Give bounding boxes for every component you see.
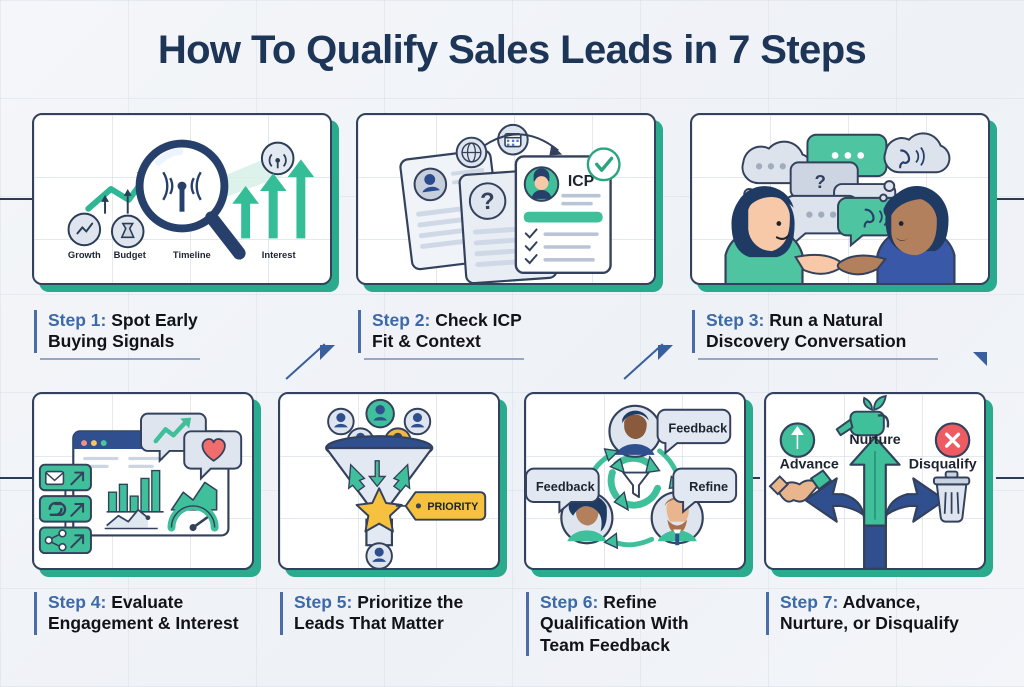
step-card-3[interactable]: ? bbox=[690, 113, 990, 285]
step-caption-6: Step 6: Refine Qualification With Team F… bbox=[526, 592, 756, 656]
step-title-4-line2: Engagement & Interest bbox=[48, 613, 239, 633]
step-number-5: Step 5: bbox=[294, 592, 352, 612]
step-title-1-line2: Buying Signals bbox=[48, 331, 174, 351]
svg-text:Feedback: Feedback bbox=[668, 420, 728, 435]
page-title: How To Qualify Sales Leads in 7 Steps bbox=[0, 28, 1024, 73]
step-title-2-line1: Check ICP bbox=[435, 310, 522, 330]
step-number-3: Step 3: bbox=[706, 310, 764, 330]
step-title-6-line2: Qualification With bbox=[540, 613, 689, 633]
svg-text:Refine: Refine bbox=[689, 479, 728, 494]
step-caption-2: Step 2: Check ICP Fit & Context bbox=[358, 310, 638, 353]
svg-text:Disqualify: Disqualify bbox=[909, 457, 977, 473]
card-frame: ? bbox=[690, 113, 990, 285]
step-title-2-line2: Fit & Context bbox=[372, 331, 481, 351]
step-title-3-line1: Run a Natural bbox=[769, 310, 883, 330]
step-number-1: Step 1: bbox=[48, 310, 106, 330]
svg-text:Growth: Growth bbox=[68, 250, 101, 260]
step-caption-4: Step 4: Evaluate Engagement & Interest bbox=[34, 592, 264, 635]
connector-arrowhead-2 bbox=[658, 345, 673, 360]
step-card-6[interactable]: Feedback Feedback Refine bbox=[524, 392, 746, 570]
svg-text:Timeline: Timeline bbox=[173, 250, 211, 260]
rail-right-top bbox=[996, 198, 1024, 200]
caption-rule bbox=[40, 358, 200, 360]
step-card-1[interactable]: Growth Budget Timeline Interest bbox=[32, 113, 332, 285]
step-caption-3: Step 3: Run a Natural Discovery Conversa… bbox=[692, 310, 982, 353]
connector-arrowhead-1 bbox=[320, 345, 335, 360]
illustration-step-6: Feedback Feedback Refine bbox=[526, 394, 744, 569]
illustration-step-2: ? ICP bbox=[358, 115, 654, 285]
svg-text:?: ? bbox=[815, 171, 826, 192]
step-card-2[interactable]: ? ICP bbox=[356, 113, 656, 285]
card-frame: Growth Budget Timeline Interest bbox=[32, 113, 332, 285]
caption-rule bbox=[698, 358, 938, 360]
rail-left-bottom bbox=[0, 477, 34, 479]
step-title-5-line1: Prioritize the bbox=[357, 592, 463, 612]
step-number-2: Step 2: bbox=[372, 310, 430, 330]
illustration-step-5: PRIORITY bbox=[280, 394, 498, 569]
caption-rule bbox=[364, 358, 524, 360]
svg-text:Nurture: Nurture bbox=[849, 432, 900, 448]
step-title-7-line1: Advance, bbox=[843, 592, 921, 612]
svg-text:Interest: Interest bbox=[262, 250, 296, 260]
card-frame: PRIORITY bbox=[278, 392, 500, 570]
svg-text:ICP: ICP bbox=[568, 173, 594, 190]
svg-text:Advance: Advance bbox=[780, 457, 839, 473]
step-title-7-line2: Nurture, or Disqualify bbox=[780, 613, 959, 633]
step-number-4: Step 4: bbox=[48, 592, 106, 612]
card-frame bbox=[32, 392, 254, 570]
svg-text:PRIORITY: PRIORITY bbox=[427, 501, 479, 513]
step-title-6-line3: Team Feedback bbox=[540, 635, 670, 655]
illustration-step-7: Advance Nurture Disqualify bbox=[766, 394, 984, 569]
illustration-step-3: ? bbox=[692, 115, 988, 285]
step-title-1-line1: Spot Early bbox=[111, 310, 198, 330]
card-frame: ? ICP bbox=[356, 113, 656, 285]
card-frame: Feedback Feedback Refine bbox=[524, 392, 746, 570]
step-title-6-line1: Refine bbox=[603, 592, 656, 612]
step-card-5[interactable]: PRIORITY bbox=[278, 392, 500, 570]
step-title-4-line1: Evaluate bbox=[111, 592, 183, 612]
step-caption-5: Step 5: Prioritize the Leads That Matter bbox=[280, 592, 510, 635]
card-frame: Advance Nurture Disqualify bbox=[764, 392, 986, 570]
connector-arrowhead-3 bbox=[973, 352, 987, 366]
svg-text:?: ? bbox=[480, 188, 496, 215]
svg-text:Budget: Budget bbox=[114, 250, 146, 260]
step-title-3-line2: Discovery Conversation bbox=[706, 331, 906, 351]
illustration-step-1: Growth Budget Timeline Interest bbox=[34, 115, 330, 285]
step-caption-7: Step 7: Advance, Nurture, or Disqualify bbox=[766, 592, 1006, 635]
step-title-5-line2: Leads That Matter bbox=[294, 613, 444, 633]
step-card-7[interactable]: Advance Nurture Disqualify bbox=[764, 392, 986, 570]
step-card-4[interactable] bbox=[32, 392, 254, 570]
step-number-6: Step 6: bbox=[540, 592, 598, 612]
infographic-root: How To Qualify Sales Leads in 7 Steps bbox=[0, 0, 1024, 687]
step-caption-1: Step 1: Spot Early Buying Signals bbox=[34, 310, 314, 353]
illustration-step-4 bbox=[34, 394, 252, 569]
rail-right-bottom bbox=[996, 477, 1024, 479]
step-number-7: Step 7: bbox=[780, 592, 838, 612]
svg-text:Feedback: Feedback bbox=[536, 479, 596, 494]
rail-left-top bbox=[0, 198, 34, 200]
